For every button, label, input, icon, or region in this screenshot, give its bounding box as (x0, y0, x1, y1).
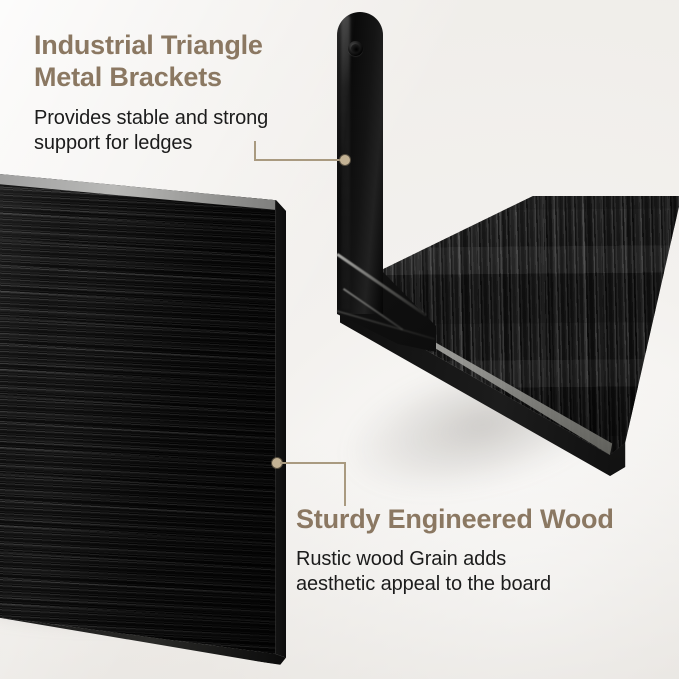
callout-dot-bracket (340, 155, 350, 165)
callout-brackets-headline: Industrial Triangle Metal Brackets (34, 30, 364, 94)
callout-brackets-subtext-line-2: support for ledges (34, 131, 364, 156)
callout-text-wood: Sturdy Engineered Wood Rustic wood Grain… (296, 504, 674, 597)
wood-panel-sheen (0, 150, 286, 679)
callout-leader-wood-horizontal (280, 462, 346, 464)
callout-brackets-headline-line-2: Metal Brackets (34, 62, 364, 94)
callout-wood-subtext: Rustic wood Grain adds aesthetic appeal … (296, 547, 674, 597)
callout-leader-bracket-horizontal (254, 159, 346, 161)
callout-wood-headline-line-1: Sturdy Engineered Wood (296, 504, 674, 536)
callout-leader-wood-vertical (344, 462, 346, 506)
callout-text-brackets: Industrial Triangle Metal Brackets Provi… (34, 30, 364, 156)
callout-wood-headline: Sturdy Engineered Wood (296, 504, 674, 536)
callout-wood-subtext-line-2: aesthetic appeal to the board (296, 572, 674, 597)
callout-brackets-headline-line-1: Industrial Triangle (34, 30, 364, 62)
callout-wood-subtext-line-1: Rustic wood Grain adds (296, 547, 674, 572)
wood-panel-face (0, 150, 286, 679)
callout-brackets-subtext: Provides stable and strong support for l… (34, 106, 364, 156)
wood-panel (0, 150, 286, 679)
callout-brackets-subtext-line-1: Provides stable and strong (34, 106, 364, 131)
product-infographic: Industrial Triangle Metal Brackets Provi… (0, 0, 679, 679)
